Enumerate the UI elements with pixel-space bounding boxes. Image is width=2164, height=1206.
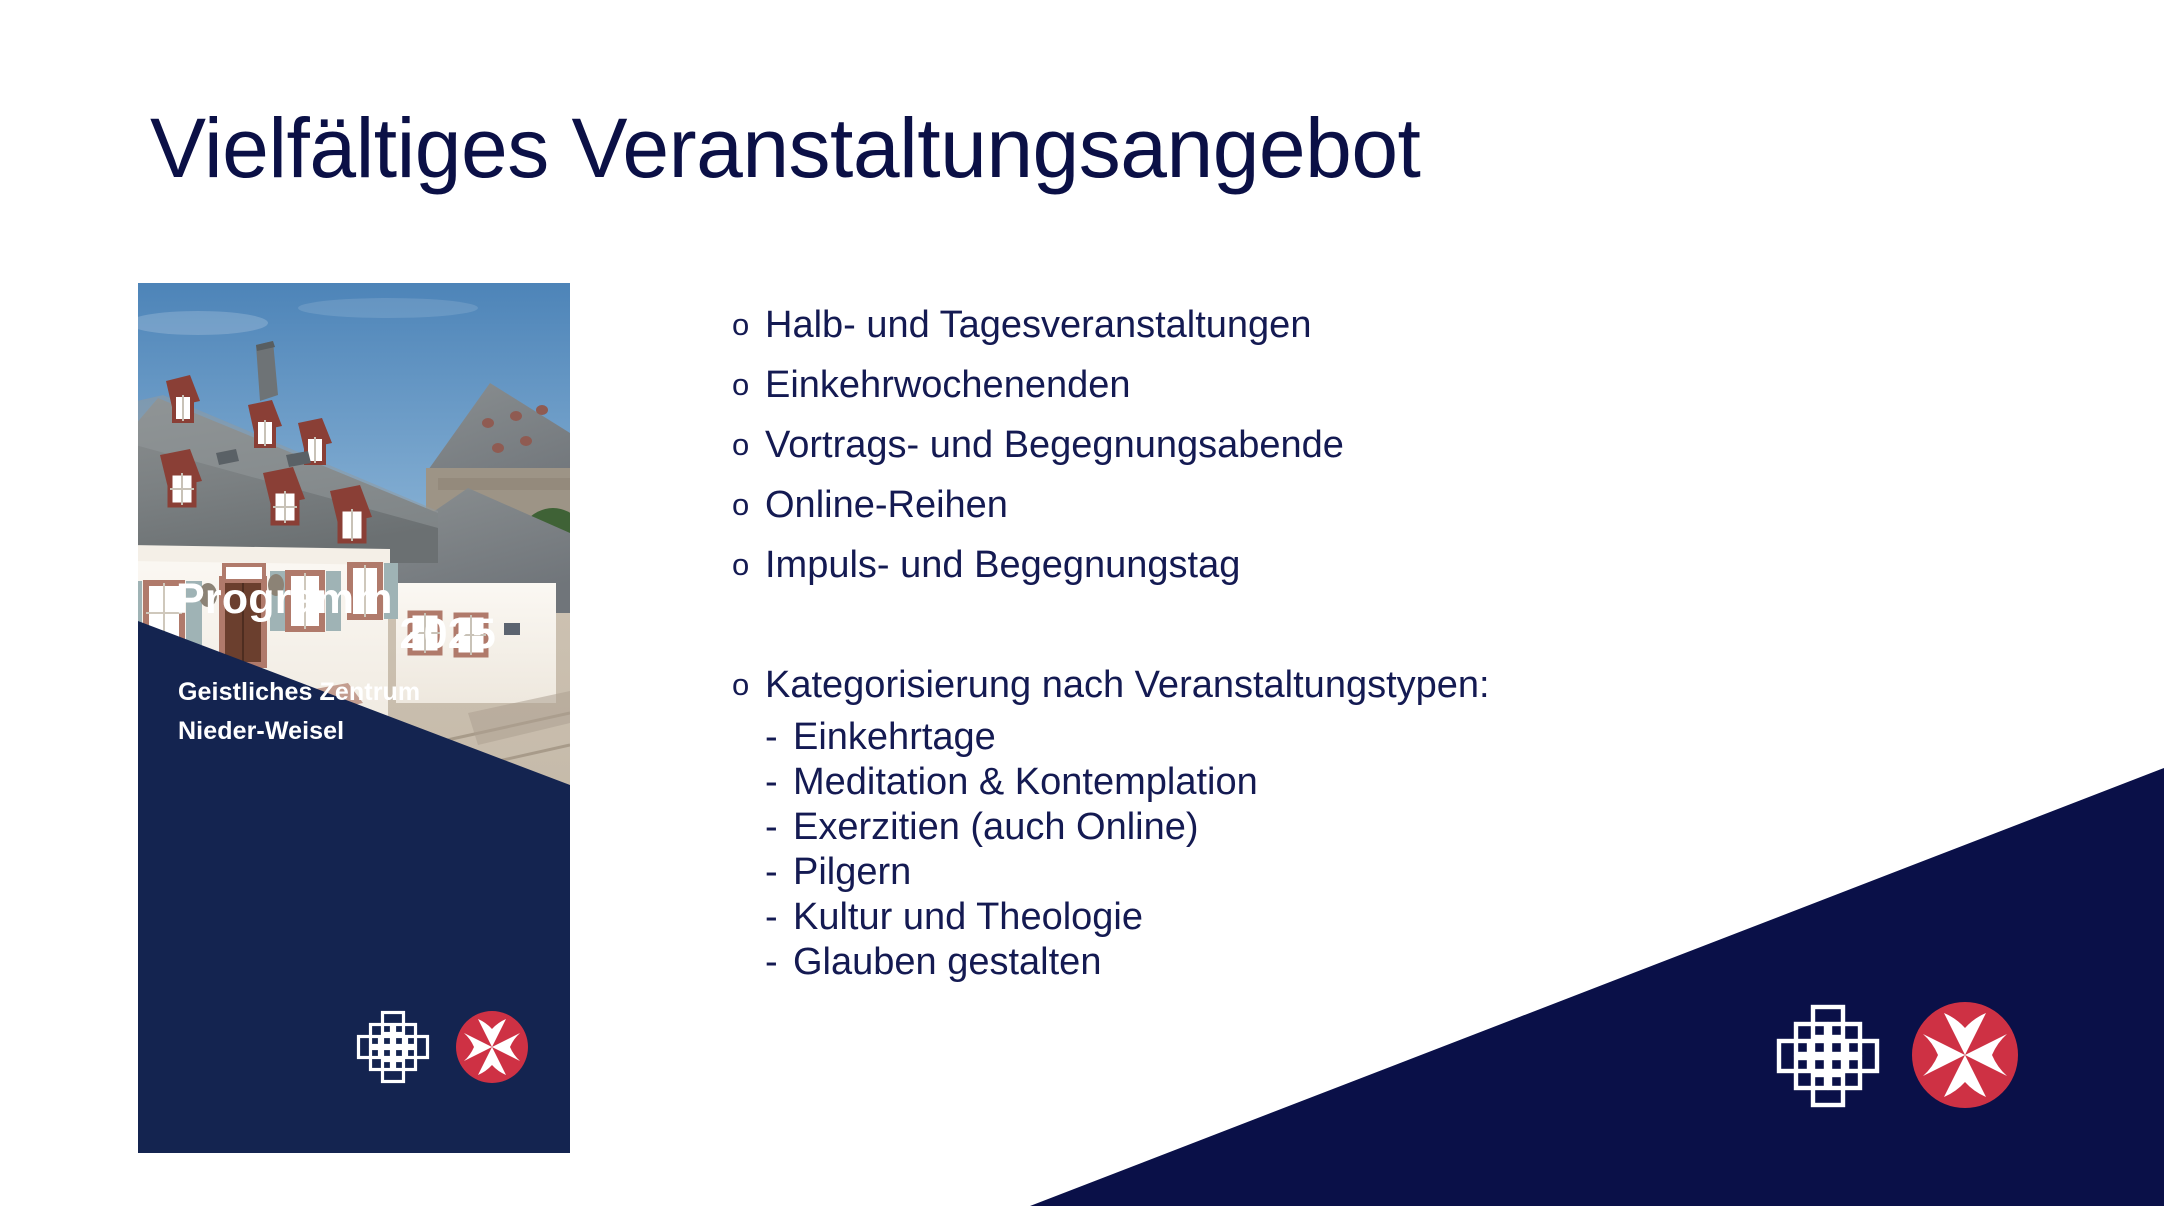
brochure-year: 2025 bbox=[176, 613, 496, 656]
brochure-logo-pair bbox=[352, 1008, 532, 1086]
sub-list-item: - Exerzitien (auch Online) bbox=[732, 805, 1932, 850]
brochure-org-line2: Nieder-Weisel bbox=[178, 717, 344, 746]
bullet-marker-icon: o bbox=[732, 655, 765, 715]
brochure-org-line1: Geistliches Zentrum bbox=[178, 678, 420, 707]
sub-list-item: - Einkehrtage bbox=[732, 715, 1932, 760]
dash-marker-icon: - bbox=[765, 805, 793, 850]
list-item: o Vortrags- und Begegnungsabende bbox=[732, 415, 1932, 475]
list-item: o Impuls- und Begegnungstag bbox=[732, 535, 1932, 595]
content-bullet-list: o Halb- und Tagesveranstaltungen o Einke… bbox=[732, 295, 1932, 985]
maltese-cross-logo bbox=[1912, 1002, 2018, 1108]
sub-list-item-label: Pilgern bbox=[793, 850, 1932, 895]
slide-canvas: Vielfältiges Veranstaltungsangebot bbox=[0, 0, 2164, 1206]
sub-list-item: - Glauben gestalten bbox=[732, 940, 1932, 985]
brochure-text-block: Programm 2025 Geistliches Zentrum Nieder… bbox=[138, 283, 570, 1153]
johanniter-square-cross-logo bbox=[1779, 1007, 1877, 1105]
list-item: o Einkehrwochenenden bbox=[732, 355, 1932, 415]
brochure-cover-image: Programm 2025 Geistliches Zentrum Nieder… bbox=[138, 283, 570, 1153]
bullet-marker-icon: o bbox=[732, 355, 765, 415]
list-item: o Halb- und Tagesveranstaltungen bbox=[732, 295, 1932, 355]
sub-list-item-label: Exerzitien (auch Online) bbox=[793, 805, 1932, 850]
list-item-label: Vortrags- und Begegnungsabende bbox=[765, 415, 1932, 475]
list-item-label: Online-Reihen bbox=[765, 475, 1932, 535]
page-title: Vielfältiges Veranstaltungsangebot bbox=[150, 104, 2050, 192]
dash-marker-icon: - bbox=[765, 895, 793, 940]
dash-marker-icon: - bbox=[765, 760, 793, 805]
bullet-marker-icon: o bbox=[732, 535, 765, 595]
bullet-marker-icon: o bbox=[732, 415, 765, 475]
dash-marker-icon: - bbox=[765, 850, 793, 895]
bullet-marker-icon: o bbox=[732, 295, 765, 355]
list-item-label: Einkehrwochenenden bbox=[765, 355, 1932, 415]
dash-marker-icon: - bbox=[765, 940, 793, 985]
list-item-heading: o Kategorisierung nach Veranstaltungstyp… bbox=[732, 655, 1932, 715]
list-item: o Online-Reihen bbox=[732, 475, 1932, 535]
sub-list-item: - Kultur und Theologie bbox=[732, 895, 1932, 940]
list-item-label: Impuls- und Begegnungstag bbox=[765, 535, 1932, 595]
sub-list-item: - Meditation & Kontemplation bbox=[732, 760, 1932, 805]
sub-list-item-label: Kultur und Theologie bbox=[793, 895, 1932, 940]
bullet-marker-icon: o bbox=[732, 475, 765, 535]
maltese-cross-logo bbox=[456, 1011, 528, 1083]
sub-list-item-label: Glauben gestalten bbox=[793, 940, 1932, 985]
dash-marker-icon: - bbox=[765, 715, 793, 760]
footer-logo-pair bbox=[1770, 1000, 2030, 1110]
sub-list-item: - Pilgern bbox=[732, 850, 1932, 895]
johanniter-square-cross-logo bbox=[359, 1013, 428, 1082]
sub-list-item-label: Meditation & Kontemplation bbox=[793, 760, 1932, 805]
list-item-label: Halb- und Tagesveranstaltungen bbox=[765, 295, 1932, 355]
sub-list-item-label: Einkehrtage bbox=[793, 715, 1932, 760]
list-spacer bbox=[732, 595, 1932, 655]
list-item-label: Kategorisierung nach Veranstaltungstypen… bbox=[765, 655, 1932, 715]
